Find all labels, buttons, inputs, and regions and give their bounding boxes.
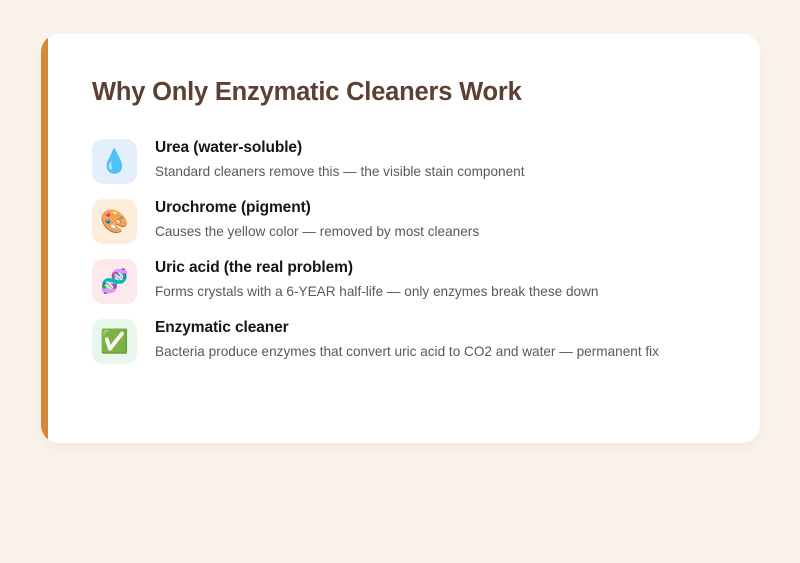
card-accent-bar	[41, 34, 48, 443]
droplet-icon: 💧	[92, 139, 137, 184]
list-item-text: Urea (water-soluble) Standard cleaners r…	[155, 137, 525, 181]
info-card: Why Only Enzymatic Cleaners Work 💧 Urea …	[41, 34, 760, 443]
list-item-title: Urochrome (pigment)	[155, 198, 479, 219]
list-item-description: Causes the yellow color — removed by mos…	[155, 222, 479, 241]
list-item-text: Urochrome (pigment) Causes the yellow co…	[155, 197, 479, 241]
list-item: 💧 Urea (water-soluble) Standard cleaners…	[92, 137, 726, 184]
page-title: Why Only Enzymatic Cleaners Work	[92, 78, 726, 106]
page-root: Why Only Enzymatic Cleaners Work 💧 Urea …	[0, 0, 800, 563]
list-item-text: Enzymatic cleaner Bacteria produce enzym…	[155, 317, 659, 361]
explanation-list: 💧 Urea (water-soluble) Standard cleaners…	[92, 137, 726, 364]
list-item: ✅ Enzymatic cleaner Bacteria produce enz…	[92, 317, 726, 364]
card-content: Why Only Enzymatic Cleaners Work 💧 Urea …	[48, 34, 760, 443]
palette-icon: 🎨	[92, 199, 137, 244]
list-item-description: Standard cleaners remove this — the visi…	[155, 162, 525, 181]
list-item-title: Enzymatic cleaner	[155, 318, 659, 339]
list-item-text: Uric acid (the real problem) Forms cryst…	[155, 257, 598, 301]
list-item: 🎨 Urochrome (pigment) Causes the yellow …	[92, 197, 726, 244]
list-item-title: Uric acid (the real problem)	[155, 258, 598, 279]
list-item-title: Urea (water-soluble)	[155, 138, 525, 159]
dna-icon: 🧬	[92, 259, 137, 304]
list-item: 🧬 Uric acid (the real problem) Forms cry…	[92, 257, 726, 304]
list-item-description: Bacteria produce enzymes that convert ur…	[155, 342, 659, 361]
list-item-description: Forms crystals with a 6-YEAR half-life —…	[155, 282, 598, 301]
check-mark-button-icon: ✅	[92, 319, 137, 364]
